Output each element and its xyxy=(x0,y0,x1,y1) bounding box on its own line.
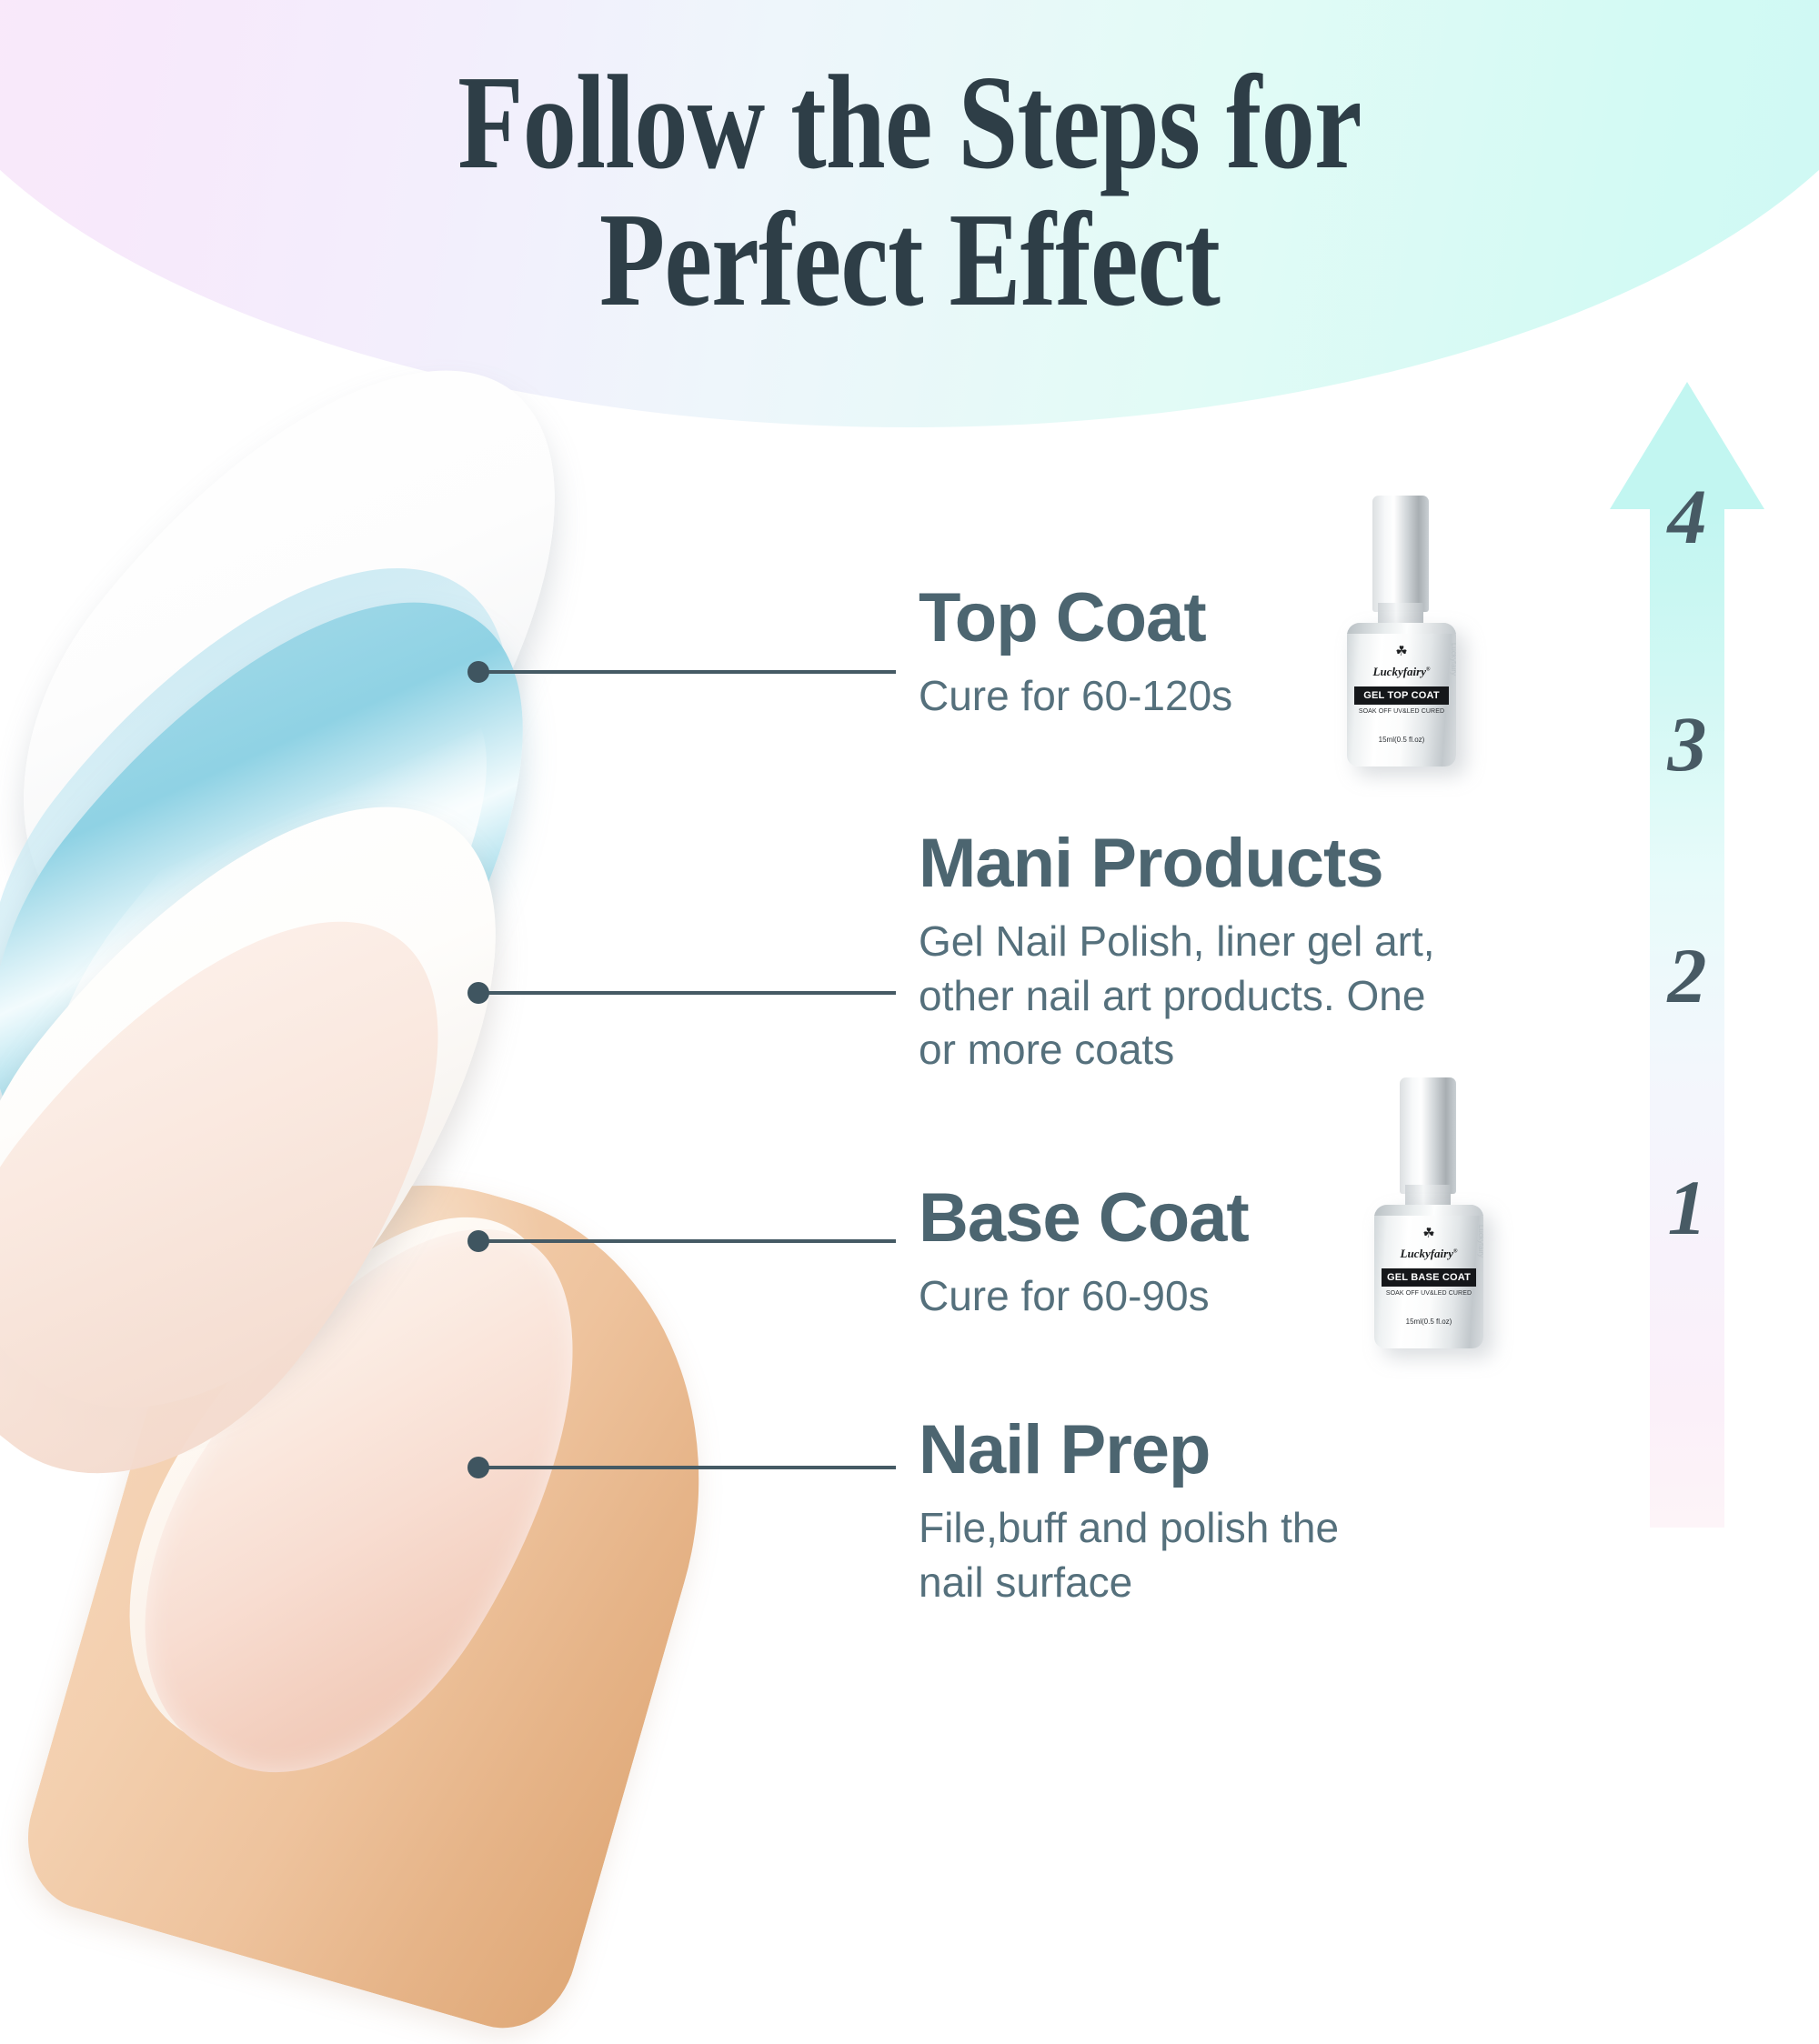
steps-list: Top Coat Cure for 60-120s Mani Products … xyxy=(919,0,1555,1819)
connector-line-base-coat xyxy=(477,1239,896,1243)
step-item-nail-prep: Nail Prep File,buff and polish the nail … xyxy=(919,1414,1555,1609)
arrow-number-4: 4 xyxy=(1610,477,1764,556)
connector-dot-nail-prep xyxy=(467,1457,489,1478)
step-desc-line: File,buff and polish the xyxy=(919,1501,1555,1556)
step-title-mani-products: Mani Products xyxy=(919,827,1555,900)
step-desc-line: Cure for 60-120s xyxy=(919,669,1555,724)
step-desc-line: or more coats xyxy=(919,1023,1555,1077)
step-desc-base-coat: Cure for 60-90s xyxy=(919,1269,1555,1324)
connector-line-mani-products xyxy=(477,991,896,995)
step-desc-line: Cure for 60-90s xyxy=(919,1269,1555,1324)
step-desc-nail-prep: File,buff and polish the nail surface xyxy=(919,1501,1555,1610)
step-desc-line: other nail art products. One xyxy=(919,969,1555,1024)
connector-line-nail-prep xyxy=(477,1466,896,1469)
step-title-nail-prep: Nail Prep xyxy=(919,1414,1555,1487)
connector-dot-base-coat xyxy=(467,1230,489,1252)
step-desc-top-coat: Cure for 60-120s xyxy=(919,669,1555,724)
step-title-top-coat: Top Coat xyxy=(919,582,1555,655)
arrow-number-1: 1 xyxy=(1610,1168,1764,1247)
arrow-number-2: 2 xyxy=(1610,937,1764,1015)
step-item-base-coat: Base Coat Cure for 60-90s xyxy=(919,1182,1555,1324)
step-desc-line: Gel Nail Polish, liner gel art, xyxy=(919,915,1555,969)
connector-line-top-coat xyxy=(477,670,896,674)
arrow-number-3: 3 xyxy=(1610,705,1764,783)
step-desc-line: nail surface xyxy=(919,1556,1555,1610)
step-title-base-coat: Base Coat xyxy=(919,1182,1555,1255)
nail-layer-illustration xyxy=(55,364,873,1455)
step-item-top-coat: Top Coat Cure for 60-120s xyxy=(919,582,1555,724)
step-item-mani-products: Mani Products Gel Nail Polish, liner gel… xyxy=(919,827,1555,1077)
step-progress-arrow: 4 3 2 1 xyxy=(1610,382,1764,1528)
step-desc-mani-products: Gel Nail Polish, liner gel art, other na… xyxy=(919,915,1555,1077)
connector-dot-top-coat xyxy=(467,661,489,683)
connector-dot-mani-products xyxy=(467,982,489,1004)
